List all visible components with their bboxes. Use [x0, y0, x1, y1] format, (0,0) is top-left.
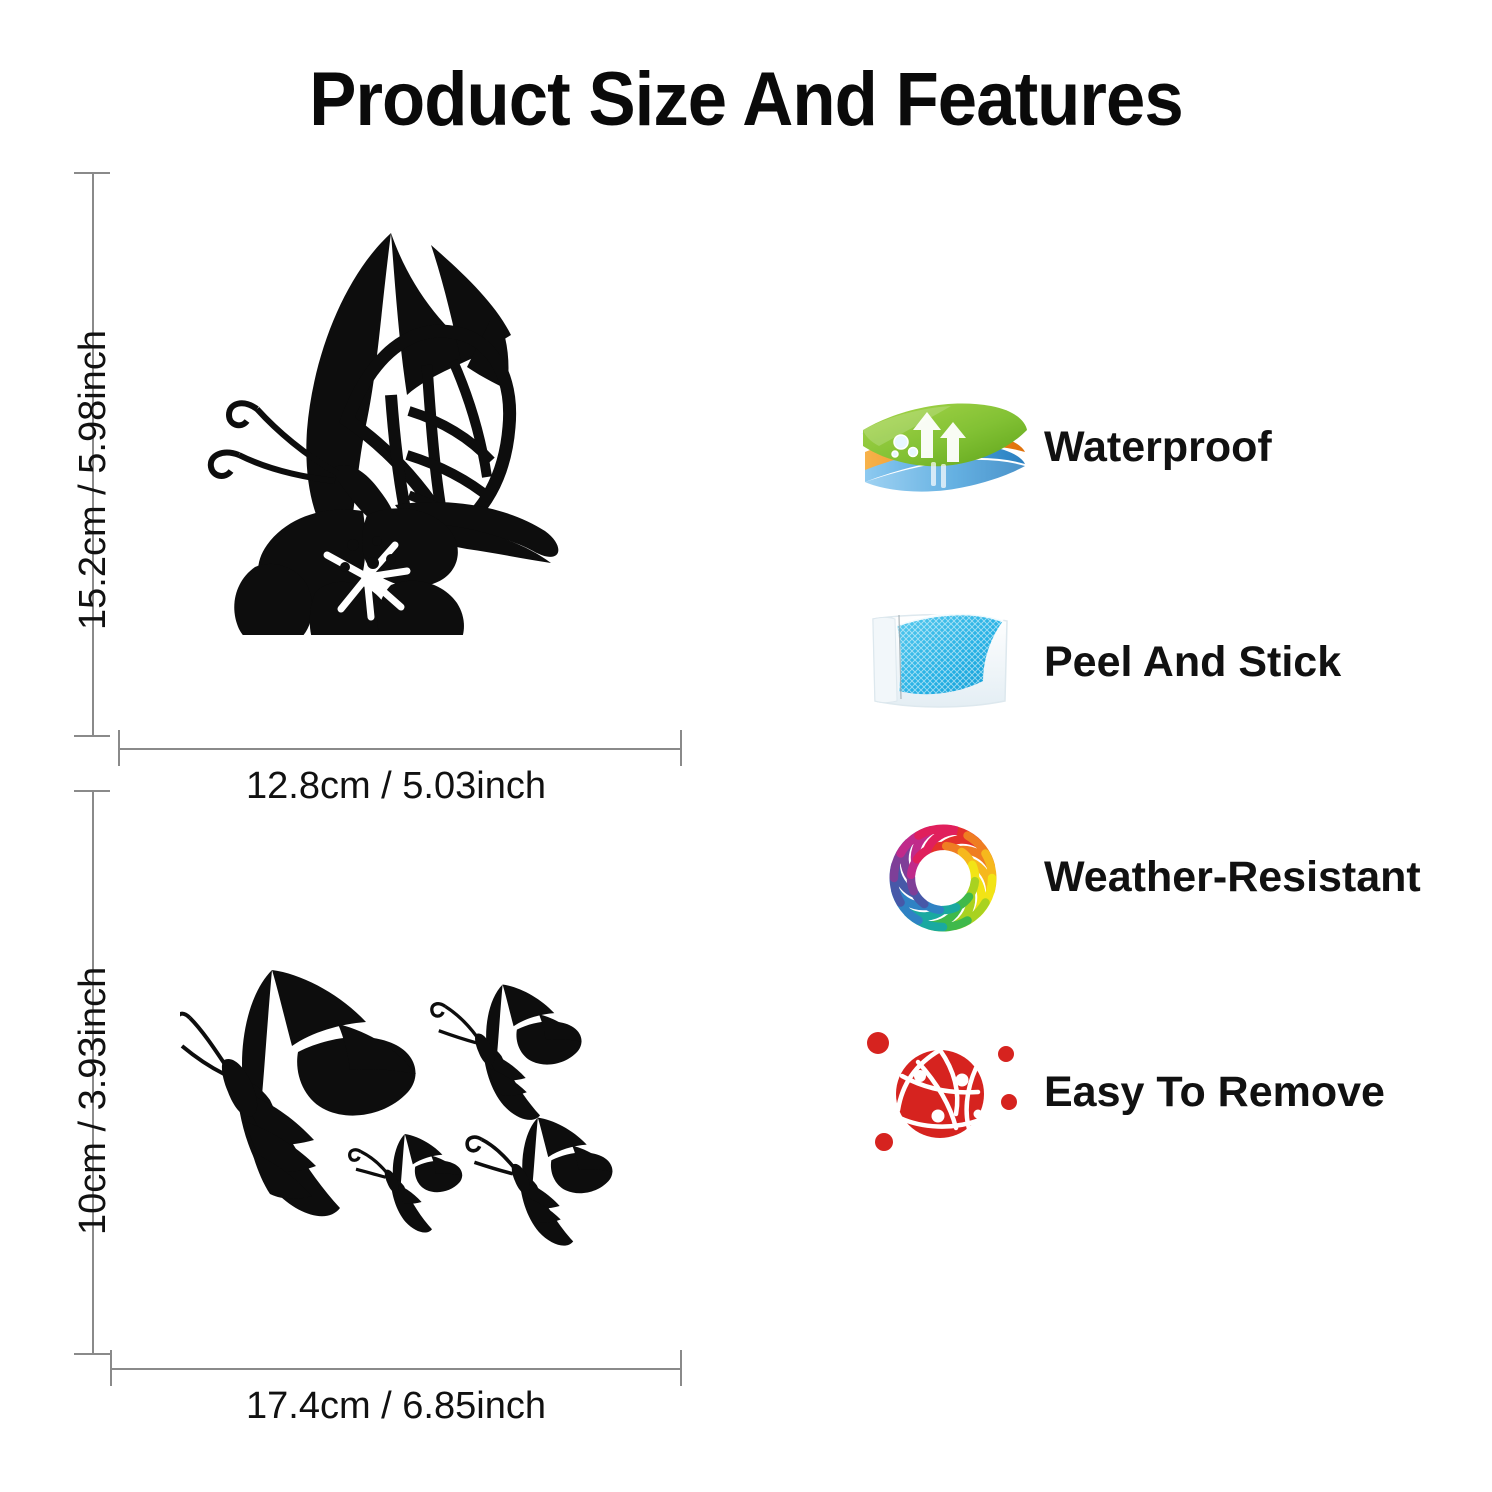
- decal-butterfly-group-of-four: [180, 940, 660, 1260]
- feature-label-easy-to-remove: Easy To Remove: [1044, 1068, 1385, 1117]
- feature-row-waterproof: Waterproof: [855, 340, 1475, 555]
- page-title: Product Size And Features: [52, 56, 1440, 143]
- top-width-bracket-line: [118, 748, 682, 750]
- top-width-bracket-cap-left: [118, 730, 120, 766]
- peeling-film-icon: [855, 598, 1030, 728]
- features-list: Waterproof: [855, 340, 1475, 1200]
- feature-label-peel-and-stick: Peel And Stick: [1044, 638, 1341, 687]
- bottom-width-label: 17.4cm / 6.85inch: [246, 1385, 546, 1428]
- bottom-height-bracket-cap-top: [74, 790, 110, 792]
- feature-label-weather-resistant: Weather-Resistant: [1044, 853, 1421, 902]
- bottom-height-label: 10cm / 3.93inch: [72, 967, 115, 1235]
- bottom-width-bracket-line: [110, 1368, 682, 1370]
- layered-fabric-waterproof-icon: [855, 383, 1030, 513]
- feature-row-peel-and-stick: Peel And Stick: [855, 555, 1475, 770]
- top-height-bracket-cap-top: [74, 172, 110, 174]
- decal-butterfly-with-hibiscus-flower: [195, 215, 595, 635]
- top-width-bracket-cap-right: [680, 730, 682, 766]
- feature-row-weather-resistant: Weather-Resistant: [855, 770, 1475, 985]
- red-globe-network-icon: [855, 1028, 1030, 1158]
- top-height-label: 15.2cm / 5.98inch: [72, 330, 115, 630]
- feature-row-easy-to-remove: Easy To Remove: [855, 985, 1475, 1200]
- feature-label-waterproof: Waterproof: [1044, 423, 1272, 472]
- bottom-width-bracket-cap-right: [680, 1350, 682, 1386]
- bottom-height-bracket-cap-bottom: [74, 1353, 110, 1355]
- bottom-width-bracket-cap-left: [110, 1350, 112, 1386]
- top-width-label: 12.8cm / 5.03inch: [246, 765, 546, 808]
- top-height-bracket-cap-bottom: [74, 735, 110, 737]
- rainbow-spiral-icon: [855, 813, 1030, 943]
